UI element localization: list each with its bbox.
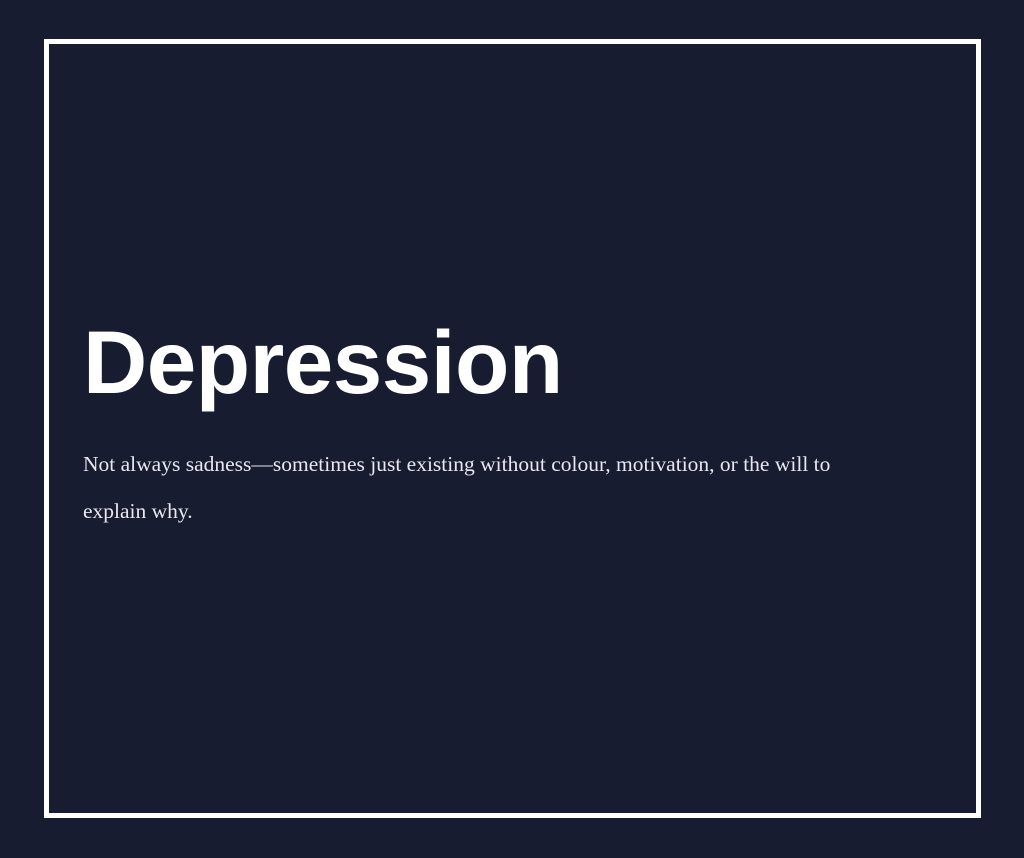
poster-text-block: Depression Not always sadness—sometimes … [83, 318, 913, 535]
poster-canvas: Depression Not always sadness—sometimes … [0, 0, 1024, 858]
poster-description: Not always sadness—sometimes just existi… [83, 407, 895, 535]
page-title: Depression [83, 318, 913, 407]
